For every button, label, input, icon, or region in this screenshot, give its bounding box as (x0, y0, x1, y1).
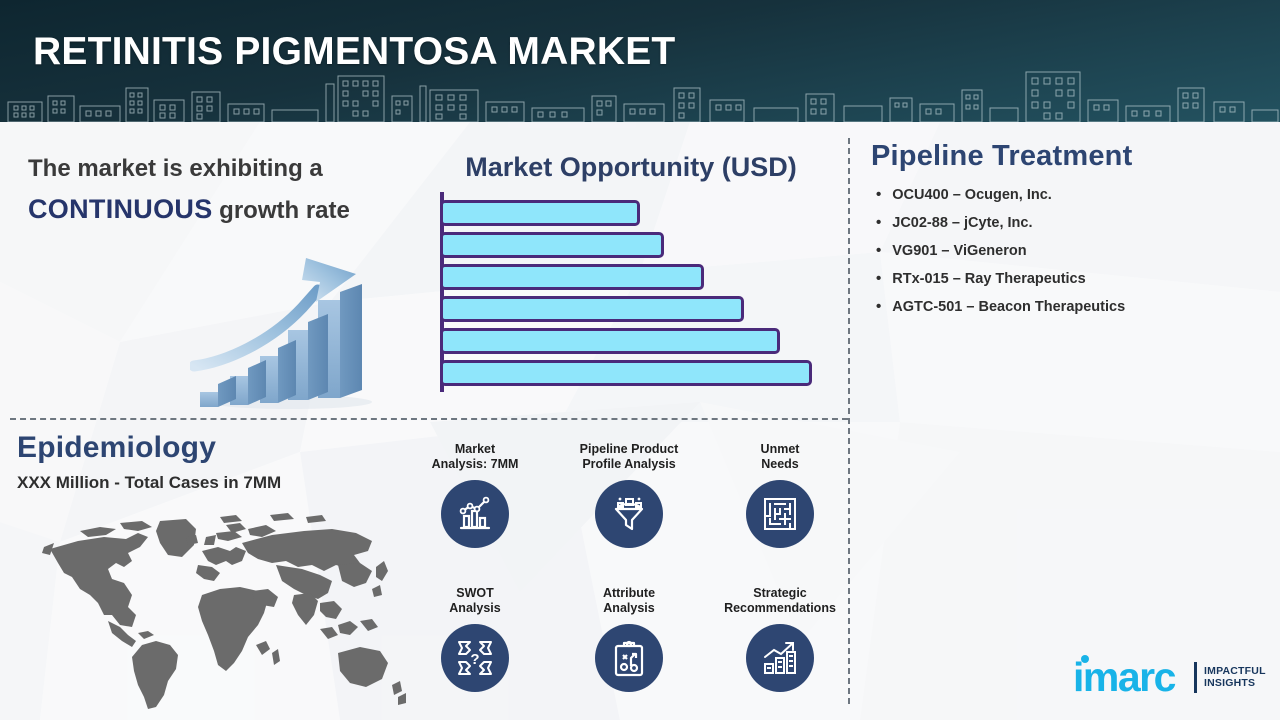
icon-label: Attribute Analysis (554, 586, 704, 616)
page-title: RETINITIS PIGMENTOSA MARKET (33, 30, 675, 74)
logo-tagline-line2: INSIGHTS (1204, 677, 1266, 689)
icon-label: Unmet Needs (705, 442, 855, 472)
pipeline-list: • OCU400 – Ocugen, Inc. • JC02-88 – jCyt… (862, 187, 1280, 316)
chart-bar (440, 264, 704, 290)
analysis-icon-grid: Market Analysis: 7MM (412, 430, 848, 715)
list-item-label: VG901 – ViGeneron (892, 243, 1026, 260)
clipboard-strategy-icon (595, 624, 663, 692)
chart-bar (440, 296, 744, 322)
list-item: • RTx-015 – Ray Therapeutics (876, 271, 1280, 288)
grid-item-attribute-analysis[interactable]: Attribute Analysis (554, 586, 704, 692)
swot-arrows-question-icon: ? (441, 624, 509, 692)
list-item: • OCU400 – Ocugen, Inc. (876, 187, 1280, 204)
list-item-label: JC02-88 – jCyte, Inc. (892, 215, 1032, 232)
chart-bar (440, 328, 780, 354)
bullet-icon: • (876, 271, 881, 287)
list-item-label: OCU400 – Ocugen, Inc. (892, 187, 1052, 204)
growth-statement-panel: The market is exhibiting a CONTINUOUS gr… (0, 130, 420, 416)
list-item: • AGTC-501 – Beacon Therapeutics (876, 299, 1280, 316)
grid-item-pipeline-product-profile[interactable]: Pipeline Product Profile Analysis (554, 442, 704, 548)
bullet-icon: • (876, 243, 881, 259)
epidemiology-title: Epidemiology (17, 431, 216, 465)
grid-item-unmet-needs[interactable]: Unmet Needs (705, 442, 855, 548)
growth-bar-chart-arrow-icon (190, 250, 390, 415)
list-item-label: RTx-015 – Ray Therapeutics (892, 271, 1085, 288)
chart-bar (440, 360, 812, 386)
growth-chart-arrow-icon (746, 624, 814, 692)
svg-text:?: ? (470, 651, 479, 668)
epidemiology-panel: Epidemiology XXX Million - Total Cases i… (0, 425, 420, 720)
growth-statement: The market is exhibiting a CONTINUOUS gr… (28, 148, 378, 231)
grid-item-market-analysis[interactable]: Market Analysis: 7MM (400, 442, 550, 548)
infographic-slide: RETINITIS PIGMENTOSA MARKET The market i… (0, 0, 1280, 720)
grid-item-strategic-recommendations[interactable]: Strategic Recommendations (705, 586, 855, 692)
chart-bar (440, 200, 640, 226)
list-item: • VG901 – ViGeneron (876, 243, 1280, 260)
chart-bar (440, 232, 664, 258)
icon-label: Market Analysis: 7MM (400, 442, 550, 472)
market-opportunity-chart: Market Opportunity (USD) (412, 140, 848, 410)
epidemiology-subtitle: XXX Million - Total Cases in 7MM (17, 473, 281, 493)
funnel-icon (595, 480, 663, 548)
bullet-icon: • (876, 299, 881, 315)
bar-chart-line-icon (441, 480, 509, 548)
bullet-icon: • (876, 187, 881, 203)
list-item-label: AGTC-501 – Beacon Therapeutics (892, 299, 1125, 316)
grid-item-swot-analysis[interactable]: SWOT Analysis ? (400, 586, 550, 692)
logo-tagline: IMPACTFUL INSIGHTS (1204, 665, 1266, 689)
growth-line-2: growth rate (213, 197, 350, 224)
city-skyline-icon (0, 66, 1280, 122)
list-item: • JC02-88 – jCyte, Inc. (876, 215, 1280, 232)
maze-icon (746, 480, 814, 548)
logo-wordmark: imarc (1073, 657, 1175, 698)
logo-divider (1194, 662, 1197, 693)
icon-label: Strategic Recommendations (705, 586, 855, 616)
pipeline-title: Pipeline Treatment (871, 140, 1280, 173)
pipeline-treatment-panel: Pipeline Treatment • OCU400 – Ocugen, In… (862, 140, 1280, 370)
chart-title: Market Opportunity (USD) (417, 152, 845, 183)
growth-highlight: CONTINUOUS (28, 194, 213, 224)
chart-plot-area (440, 196, 840, 396)
horizontal-divider (10, 418, 848, 420)
header-banner: RETINITIS PIGMENTOSA MARKET (0, 0, 1280, 122)
logo-tagline-line1: IMPACTFUL (1204, 665, 1266, 677)
growth-line-1: The market is exhibiting a (28, 155, 323, 182)
world-map-icon (20, 503, 410, 718)
imarc-logo: imarc IMPACTFUL INSIGHTS (1073, 655, 1263, 703)
logo-dot-icon (1081, 655, 1089, 663)
bullet-icon: • (876, 215, 881, 231)
icon-label: Pipeline Product Profile Analysis (554, 442, 704, 472)
icon-label: SWOT Analysis (400, 586, 550, 616)
